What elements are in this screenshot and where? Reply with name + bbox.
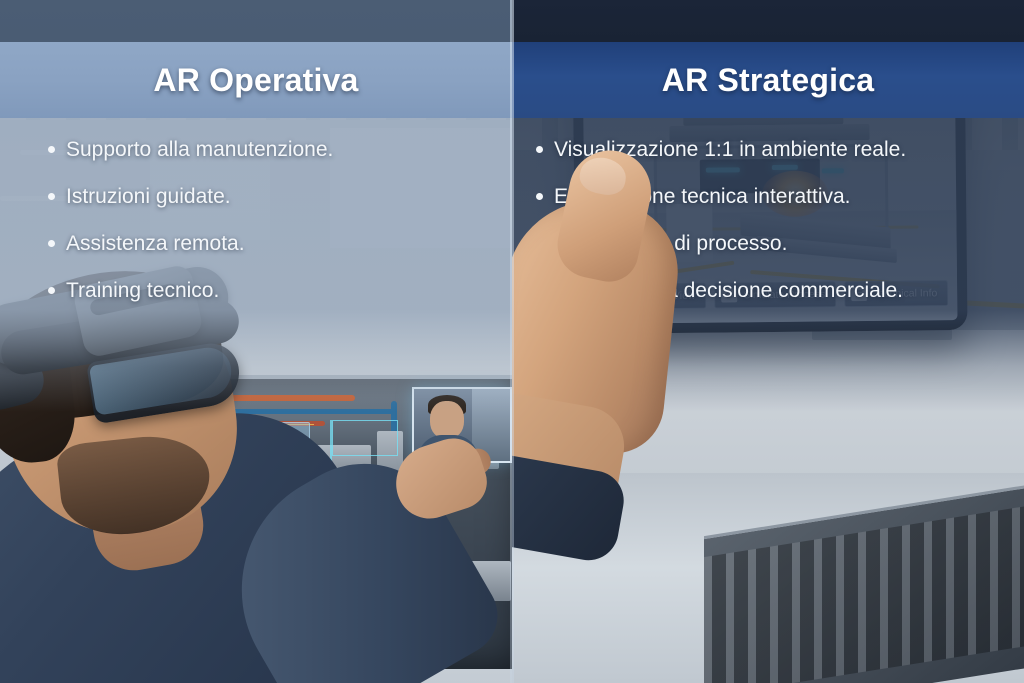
top-strip-left <box>0 0 512 42</box>
list-item: Istruzioni guidate. <box>48 185 488 209</box>
list-item-label: Training tecnico. <box>66 279 219 303</box>
header-band-left: AR Operativa <box>0 42 512 118</box>
bullet-list-operativa: Supporto alla manutenzione. Istruzioni g… <box>48 138 488 327</box>
bullet-dot <box>48 240 55 247</box>
panel-ar-operativa: Check Voltage ⤆ Pronnten Bco <box>0 0 512 683</box>
bullet-dot <box>48 287 55 294</box>
panel-title-right: AR Strategica <box>662 62 874 99</box>
list-item-label: Istruzioni guidate. <box>66 185 231 209</box>
hand-holding-tablet <box>512 150 712 480</box>
bullet-dot <box>48 193 55 200</box>
header-band-right: AR Strategica <box>512 42 1024 118</box>
list-item-label: Assistenza remota. <box>66 232 245 256</box>
comparison-slide: Check Voltage ⤆ Pronnten Bco <box>0 0 1024 683</box>
list-item: Assistenza remota. <box>48 232 488 256</box>
list-item: Training tecnico. <box>48 279 488 303</box>
panel-title-left: AR Operativa <box>153 62 358 99</box>
list-item-label: Supporto alla manutenzione. <box>66 138 333 162</box>
panel-divider <box>510 0 514 683</box>
list-item: Supporto alla manutenzione. <box>48 138 488 162</box>
top-strip-right <box>512 0 1024 42</box>
bullet-dot <box>48 146 55 153</box>
panel-ar-strategica: 13.0m ▣ Exploded View ⟳ Simulate Process… <box>512 0 1024 683</box>
